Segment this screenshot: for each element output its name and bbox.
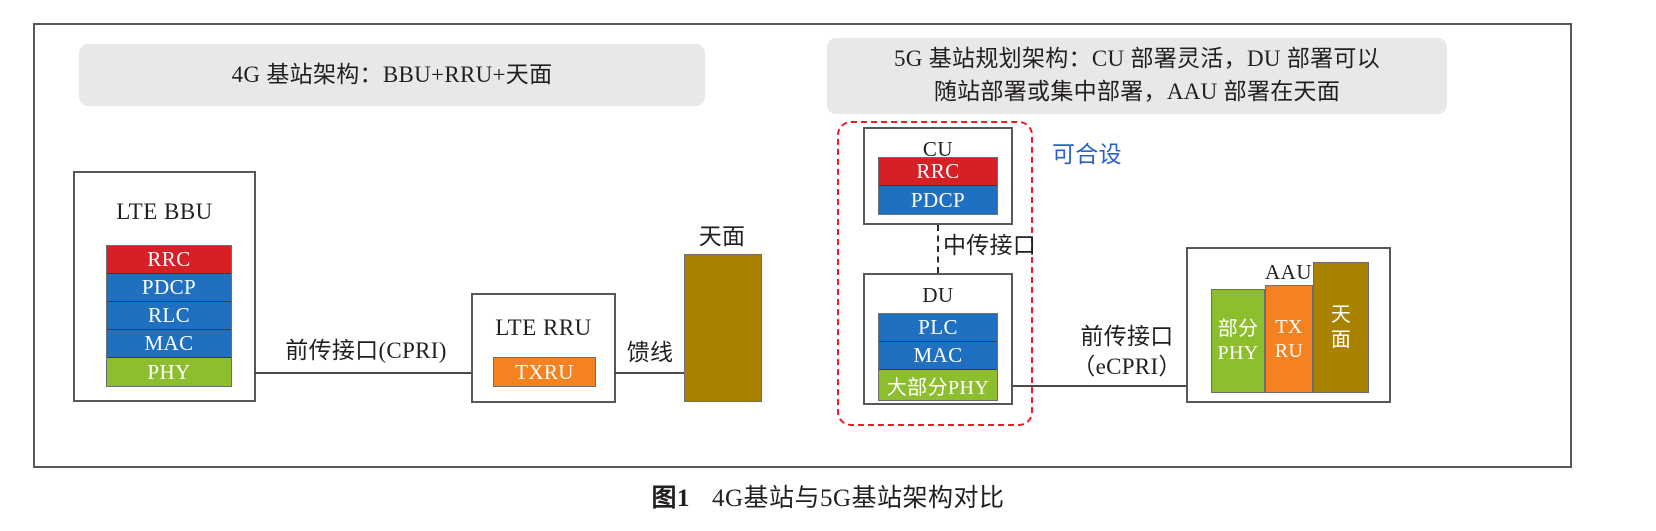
du-layer-stack: PLC MAC 大部分PHY [878,313,998,401]
column-antenna-5g: 天 面 [1313,262,1369,393]
column-partial-phy: 部分 PHY [1211,289,1265,393]
label-fronthaul-cpri: 前传接口(CPRI) [266,336,466,366]
figure-caption-number: 图1 [651,485,690,512]
banner-4g-text: 4G 基站架构：BBU+RRU+天面 [232,59,553,92]
figure-caption-text: 4G基站与5G基站架构对比 [712,485,1005,512]
du-title: DU [865,283,1011,308]
aau-column-stack: 部分 PHY TX RU 天 面 [1211,262,1369,393]
label-antenna-4g: 天面 [667,222,777,252]
layer-mac: MAC [107,330,231,358]
figure-canvas: 4G 基站架构：BBU+RRU+天面 5G 基站规划架构：CU 部署灵活，DU … [0,0,1656,531]
column-txru: TX RU [1265,285,1313,393]
lte-rru-title: LTE RRU [473,315,614,341]
connector-du-to-aau [1011,385,1188,387]
connector-rru-to-antenna [614,372,686,374]
layer-pdcp: PDCP [107,274,231,302]
layer-cu-rrc: RRC [879,158,997,186]
layer-txru: TXRU [494,358,595,386]
layer-du-most-phy: 大部分PHY [879,370,997,400]
label-fronthaul-ecpri: 前传接口 （eCPRI） [1062,322,1192,382]
label-colocate-note: 可合设 [1052,140,1122,170]
lte-bbu-title: LTE BBU [75,199,254,225]
banner-4g-architecture: 4G 基站架构：BBU+RRU+天面 [79,44,705,106]
lte-rru-layer-stack: TXRU [493,357,596,387]
lte-bbu-layer-stack: RRC PDCP RLC MAC PHY [106,245,232,387]
banner-5g-text: 5G 基站规划架构：CU 部署灵活，DU 部署可以 随站部署或集中部署，AAU … [894,43,1380,108]
layer-phy: PHY [107,358,231,386]
layer-du-mac: MAC [879,342,997,370]
antenna-block-4g [684,254,762,402]
layer-cu-pdcp: PDCP [879,186,997,214]
label-midhaul: 中传接口 [943,231,1036,261]
connector-cu-to-du-dashed [937,225,939,273]
layer-rrc: RRC [107,246,231,274]
figure-caption: 图14G基站与5G基站架构对比 [0,478,1656,514]
layer-du-plc: PLC [879,314,997,342]
label-feeder-line: 馈线 [612,338,688,368]
layer-rlc: RLC [107,302,231,330]
connector-bbu-to-rru [254,372,473,374]
banner-5g-architecture: 5G 基站规划架构：CU 部署灵活，DU 部署可以 随站部署或集中部署，AAU … [827,38,1447,114]
cu-layer-stack: RRC PDCP [878,157,998,215]
